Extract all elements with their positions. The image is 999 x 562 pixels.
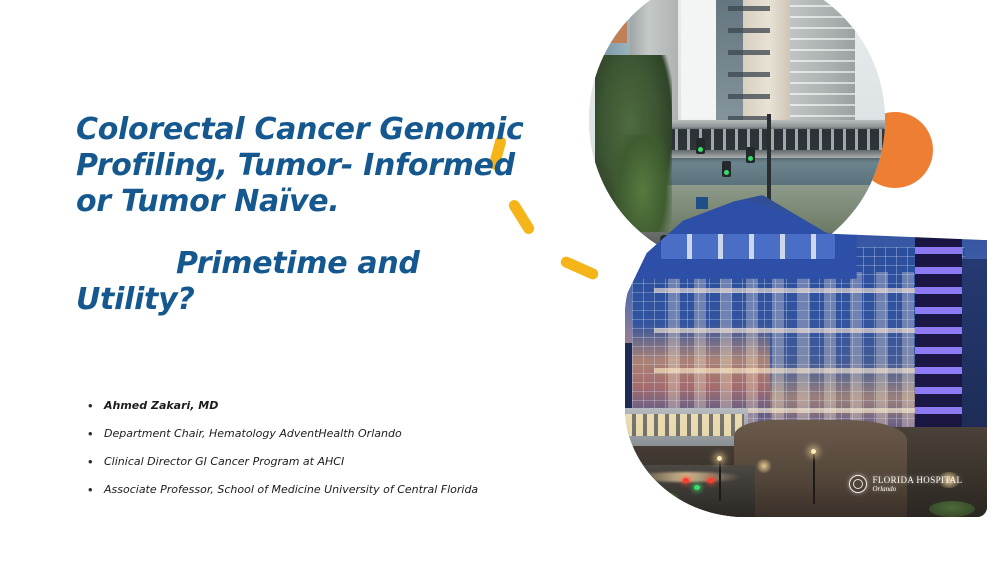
canopy-windows xyxy=(625,414,744,437)
landscaping-shrub xyxy=(639,491,679,505)
bullet-icon: • xyxy=(88,454,104,469)
title-line-2: Profiling, Tumor- Informed xyxy=(76,148,546,184)
street-sign xyxy=(696,197,708,209)
traffic-signal-green xyxy=(694,485,700,490)
traffic-light-icon xyxy=(696,138,705,154)
list-item: • Associate Professor, School of Medicin… xyxy=(88,482,558,497)
signage-line-2: Orlando xyxy=(872,486,962,493)
signage-text-group: FLORIDA HOSPITAL Orlando xyxy=(872,476,962,493)
light-pole xyxy=(719,459,721,501)
presenter-role-1: Department Chair, Hematology AdventHealt… xyxy=(104,426,402,441)
bullet-icon: • xyxy=(88,482,104,497)
bullet-icon: • xyxy=(88,426,104,441)
orange-wall-panel xyxy=(607,0,628,43)
roof-clerestory-windows xyxy=(661,234,835,260)
light-pole xyxy=(813,453,815,505)
list-item: • Ahmed Zakari, MD xyxy=(88,398,558,413)
florida-hospital-orlando-photo: FLORIDA HOSPITAL Orlando xyxy=(625,195,987,517)
hospital-signage: FLORIDA HOSPITAL Orlando xyxy=(849,475,962,493)
presentation-slide: FLORIDA HOSPITAL Orlando Colorectal Canc… xyxy=(0,0,999,562)
signage-line-1: FLORIDA HOSPITAL xyxy=(872,476,962,485)
presenter-role-2: Clinical Director GI Cancer Program at A… xyxy=(104,454,344,469)
traffic-light-icon xyxy=(746,147,755,163)
title-line-4: Primetime and xyxy=(76,246,546,282)
skybridge-windows xyxy=(642,129,885,150)
title-spacer xyxy=(76,220,546,246)
slide-title: Colorectal Cancer Genomic Profiling, Tum… xyxy=(76,112,546,318)
landscaping-shrub xyxy=(929,501,975,517)
list-item: • Clinical Director GI Cancer Program at… xyxy=(88,454,558,469)
title-line-1: Colorectal Cancer Genomic xyxy=(76,112,546,148)
presenter-role-3: Associate Professor, School of Medicine … xyxy=(104,482,478,497)
presenter-name: Ahmed Zakari, MD xyxy=(104,398,218,413)
florida-hospital-logo-icon xyxy=(849,475,867,493)
list-item: • Department Chair, Hematology AdventHea… xyxy=(88,426,558,441)
bullet-icon: • xyxy=(88,398,104,413)
title-line-5: Utility? xyxy=(76,282,546,318)
presenter-credentials-list: • Ahmed Zakari, MD • Department Chair, H… xyxy=(88,398,558,510)
traffic-light-icon xyxy=(722,161,731,177)
title-line-3: or Tumor Naïve. xyxy=(76,184,546,220)
hospital-scene: FLORIDA HOSPITAL Orlando xyxy=(625,195,987,517)
